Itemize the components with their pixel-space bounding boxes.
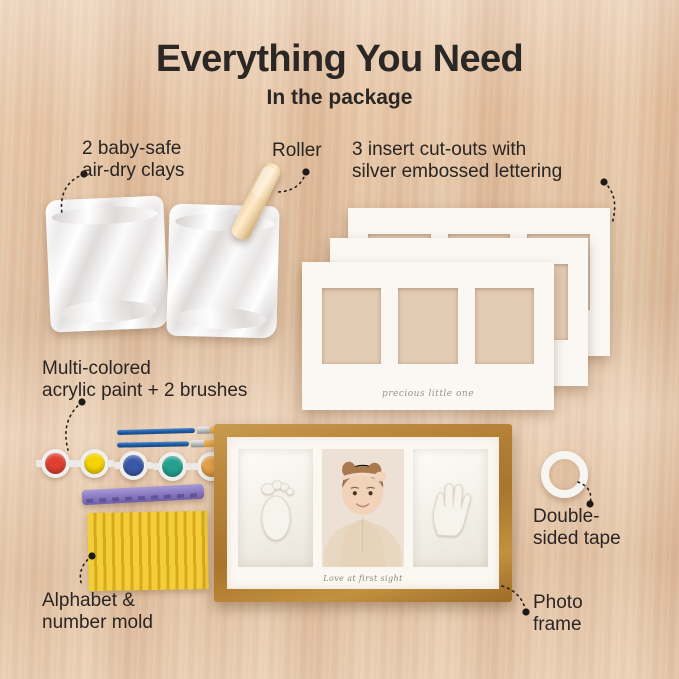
frame-mat: Love at first sight bbox=[227, 437, 499, 589]
paint-pot bbox=[158, 452, 187, 481]
brush-ferrule bbox=[191, 440, 205, 447]
insert-cutout: precious little one bbox=[302, 262, 554, 410]
infographic-canvas: Everything You Need In the package Bundl… bbox=[0, 0, 679, 679]
paint-pot bbox=[41, 449, 70, 478]
callout-label-photo-frame: Photo frame bbox=[533, 592, 583, 637]
footprint-impression bbox=[238, 449, 313, 567]
clay-packet bbox=[45, 195, 169, 332]
baby-portrait-illustration bbox=[322, 449, 403, 567]
page-title: Everything You Need bbox=[0, 38, 679, 81]
paint-color-swatch bbox=[162, 456, 183, 477]
callout-label-paint: Multi-colored acrylic paint + 2 brushes bbox=[42, 358, 247, 403]
photo-frame: Love at first sight bbox=[214, 424, 512, 602]
paint-pot bbox=[80, 449, 109, 478]
callout-label-clays: 2 baby-safe air-dry clays bbox=[82, 138, 184, 183]
clay-packet bbox=[166, 204, 279, 339]
paint-brush bbox=[117, 428, 195, 435]
page-subtitle: In the package bbox=[0, 86, 679, 110]
paint-pot bbox=[119, 451, 148, 480]
insert-window bbox=[322, 288, 381, 364]
paint-color-swatch bbox=[45, 453, 66, 474]
callout-label-inserts: 3 insert cut-outs with silver embossed l… bbox=[352, 139, 562, 184]
frame-caption: Love at first sight bbox=[227, 574, 499, 583]
paint-color-swatch bbox=[84, 453, 105, 474]
callout-label-alphabet: Alphabet & number mold bbox=[42, 590, 153, 635]
paint-color-swatch bbox=[123, 455, 144, 476]
callout-label-roller: Roller bbox=[272, 140, 322, 162]
callout-label-tape: Double- sided tape bbox=[533, 506, 621, 551]
mold-press-tool bbox=[82, 484, 205, 505]
paint-brush bbox=[117, 441, 189, 447]
insert-window bbox=[398, 288, 457, 364]
alphabet-number-mold bbox=[87, 511, 208, 591]
insert-window bbox=[475, 288, 534, 364]
footprint-icon bbox=[255, 472, 297, 544]
handprint-icon bbox=[424, 477, 476, 539]
insert-caption: precious little one bbox=[302, 389, 554, 399]
double-sided-tape-roll bbox=[541, 451, 588, 498]
baby-photo bbox=[322, 449, 403, 567]
handprint-impression bbox=[413, 449, 488, 567]
